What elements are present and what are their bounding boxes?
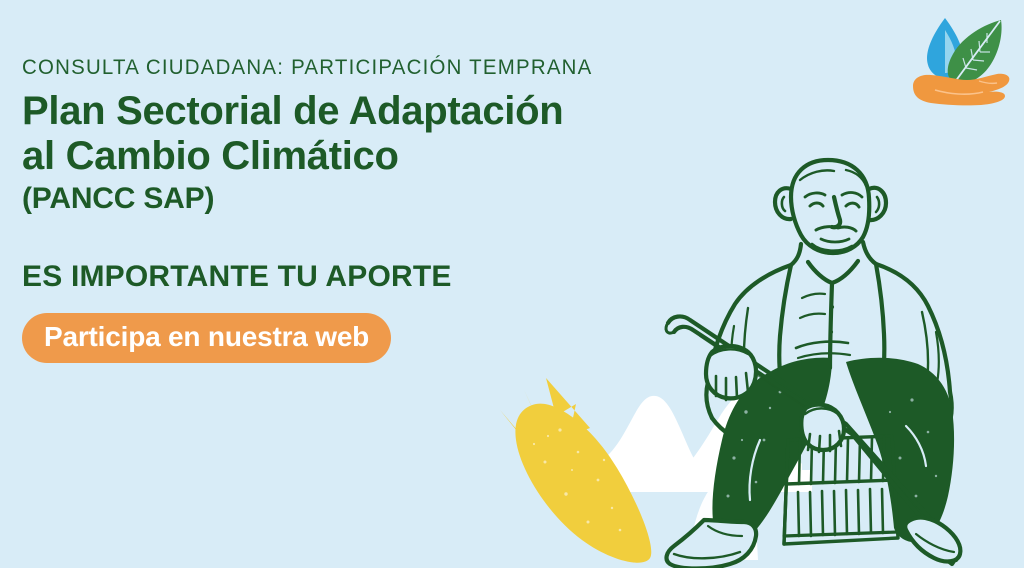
right-shoe xyxy=(905,517,960,561)
cta-container: Participa en nuestra web xyxy=(22,313,682,363)
left-shoe xyxy=(667,520,757,568)
headline-line-2: al Cambio Climático xyxy=(22,134,682,180)
head xyxy=(775,160,886,253)
corn-cob-shape xyxy=(500,378,651,563)
page-title: Plan Sectorial de Adaptación al Cambio C… xyxy=(22,89,682,180)
acronym-text: (PANCC SAP) xyxy=(22,182,682,217)
headline-line-1: Plan Sectorial de Adaptación xyxy=(22,89,563,133)
eyebrow-text: CONSULTA CIUDADANA: PARTICIPACIÓN TEMPRA… xyxy=(22,56,649,80)
headline-block: CONSULTA CIUDADANA: PARTICIPACIÓN TEMPRA… xyxy=(22,56,682,363)
seated-farmer-illustration xyxy=(660,140,1024,568)
corn-texture xyxy=(533,428,621,531)
kicker-text: ES IMPORTANTE TU APORTE xyxy=(22,260,682,293)
left-hand xyxy=(706,346,756,400)
participa-web-button[interactable]: Participa en nuestra web xyxy=(22,313,391,363)
right-hand xyxy=(801,405,844,452)
ministry-environment-logo xyxy=(905,8,1017,112)
leaf-icon xyxy=(948,20,1002,84)
promo-banner: CONSULTA CIUDADANA: PARTICIPACIÓN TEMPRA… xyxy=(0,0,1024,568)
shirt xyxy=(796,261,858,368)
